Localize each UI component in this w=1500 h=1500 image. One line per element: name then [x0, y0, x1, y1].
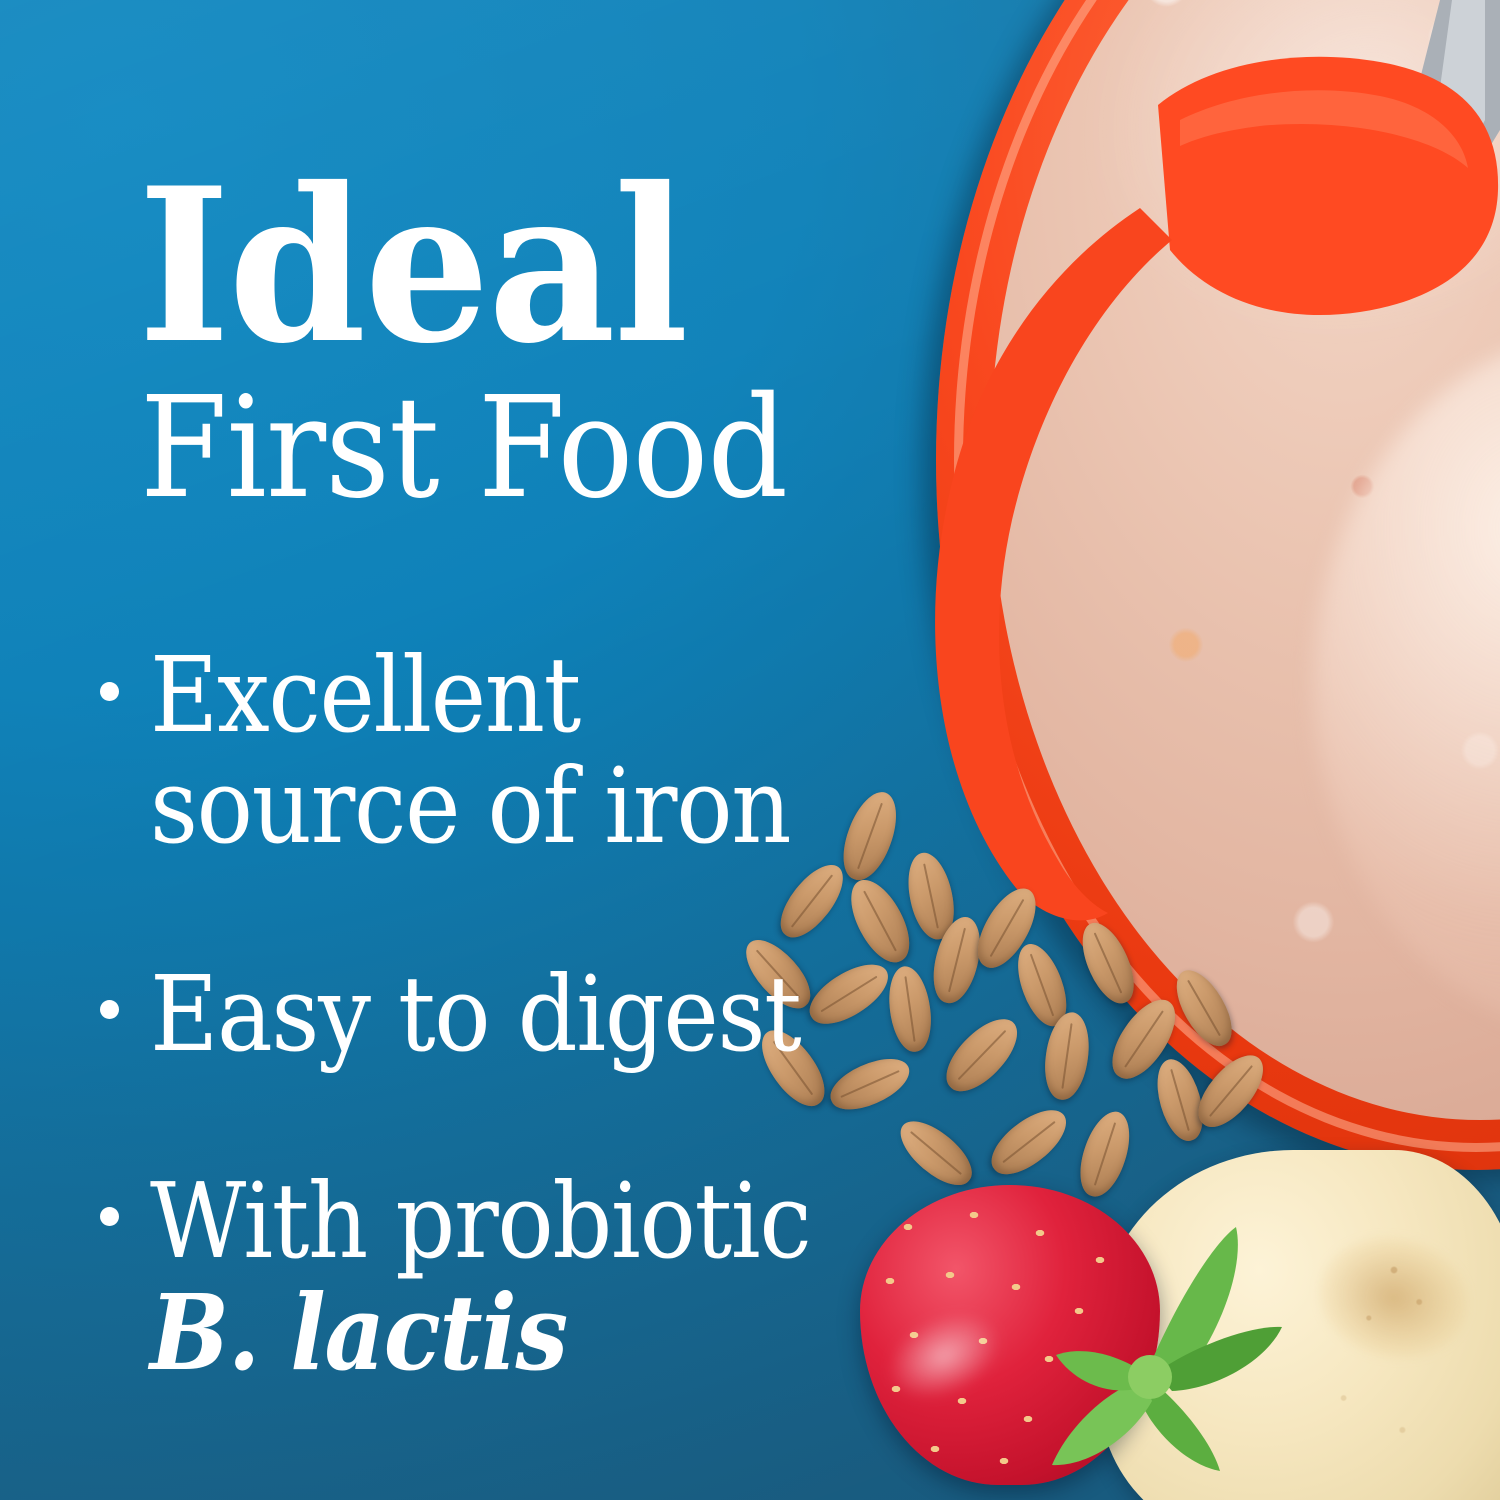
wheat-grain: [1072, 916, 1144, 1011]
benefit-line: Easy to digest: [150, 959, 812, 1070]
headline-primary: Ideal: [138, 168, 687, 363]
wheat-grain: [1166, 962, 1243, 1055]
benefit-item-probiotic: With probiotic B. lactis: [96, 1166, 886, 1389]
bullet-dot-icon: [100, 682, 119, 701]
product-benefit-panel: Ideal First Food Excellent source of iro…: [0, 0, 1500, 1500]
benefit-list: Excellent source of iron Easy to digest …: [96, 640, 886, 1388]
wheat-grain: [981, 1098, 1076, 1185]
benefit-item-iron: Excellent source of iron: [96, 640, 886, 863]
wheat-grain: [935, 1007, 1029, 1102]
benefit-item-digest: Easy to digest: [96, 959, 886, 1070]
benefit-line: source of iron: [150, 751, 812, 862]
bullet-dot-icon: [100, 1000, 119, 1019]
benefit-line: With probiotic: [150, 1166, 812, 1277]
benefit-line-italic: B. lactis: [150, 1277, 812, 1388]
benefit-line: Excellent: [150, 640, 812, 751]
wheat-grain: [890, 1110, 982, 1196]
strawberry-leaves: [1030, 1175, 1310, 1495]
bullet-dot-icon: [100, 1207, 119, 1226]
benefit-text-column: Ideal First Food Excellent source of iro…: [0, 0, 900, 1500]
headline-secondary: First Food: [140, 382, 787, 515]
